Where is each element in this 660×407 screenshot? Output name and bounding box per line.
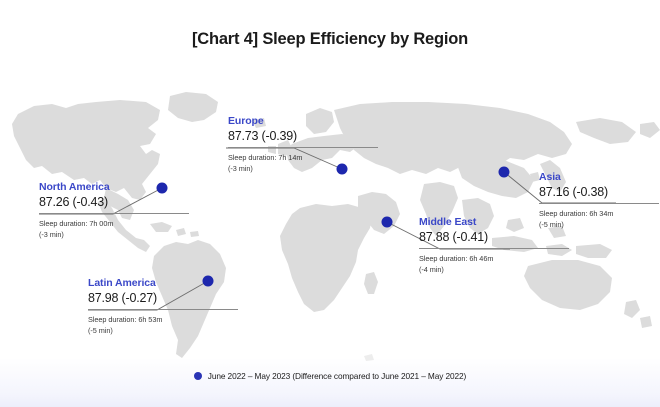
region-value-middle-east: 87.88 (-0.41) [419, 229, 569, 245]
callout-rule [228, 147, 378, 148]
region-duration-latin-america: Sleep duration: 6h 53m [88, 315, 238, 326]
region-duration-europe: Sleep duration: 7h 14m [228, 153, 378, 164]
legend-label: June 2022 – May 2023 (Difference compare… [208, 371, 466, 381]
region-value-north-america: 87.26 (-0.43) [39, 194, 189, 210]
blue-dot-icon [194, 372, 202, 380]
callout-europe[interactable]: Europe 87.73 (-0.39) Sleep duration: 7h … [228, 114, 378, 174]
region-duration-north-america: Sleep duration: 7h 00m [39, 219, 189, 230]
callout-rule [419, 248, 569, 249]
callout-latin-america[interactable]: Latin America 87.98 (-0.27) Sleep durati… [88, 276, 238, 336]
chart-page: [Chart 4] Sleep Efficiency by Region [0, 0, 660, 407]
map-marker-asia[interactable] [499, 167, 510, 178]
region-label-north-america: North America [39, 180, 189, 194]
map-marker-middle-east[interactable] [382, 217, 393, 228]
callout-rule [539, 203, 659, 204]
region-value-europe: 87.73 (-0.39) [228, 128, 378, 144]
region-value-latin-america: 87.98 (-0.27) [88, 290, 238, 306]
region-duration-change-europe: (-3 min) [228, 164, 378, 175]
region-value-asia: 87.16 (-0.38) [539, 184, 659, 200]
callout-rule [88, 309, 238, 310]
region-label-europe: Europe [228, 114, 378, 128]
region-duration-change-asia: (-5 min) [539, 220, 659, 231]
callout-asia[interactable]: Asia 87.16 (-0.38) Sleep duration: 6h 34… [539, 170, 659, 230]
chart-legend: June 2022 – May 2023 (Difference compare… [0, 371, 660, 381]
region-duration-middle-east: Sleep duration: 6h 46m [419, 254, 569, 265]
region-duration-asia: Sleep duration: 6h 34m [539, 209, 659, 220]
region-duration-change-north-america: (-3 min) [39, 230, 189, 241]
page-title: [Chart 4] Sleep Efficiency by Region [0, 30, 660, 49]
region-label-asia: Asia [539, 170, 659, 184]
callout-north-america[interactable]: North America 87.26 (-0.43) Sleep durati… [39, 180, 189, 240]
region-label-latin-america: Latin America [88, 276, 238, 290]
callout-rule [39, 213, 189, 214]
region-duration-change-middle-east: (-4 min) [419, 265, 569, 276]
region-duration-change-latin-america: (-5 min) [88, 326, 238, 337]
